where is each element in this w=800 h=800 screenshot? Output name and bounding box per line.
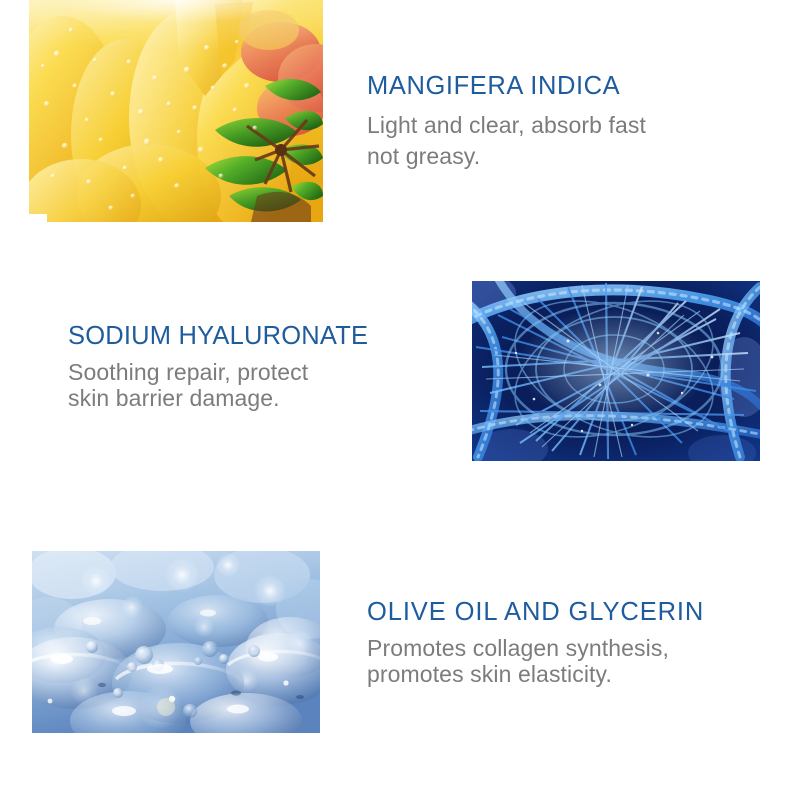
section-olive-text: OLIVE OIL AND GLYCERIN Promotes collagen… <box>367 598 704 687</box>
blue-fiber-network-photo <box>472 281 760 461</box>
section-mangifera-body-line-2: not greasy. <box>367 141 646 172</box>
section-sodium-text: SODIUM HYALURONATE Soothing repair, prot… <box>68 322 368 411</box>
fiber-photo-artwork <box>472 281 760 461</box>
section-olive-heading: OLIVE OIL AND GLYCERIN <box>367 598 704 626</box>
water-photo-artwork <box>32 551 320 733</box>
section-sodium-body-line-2: skin barrier damage. <box>68 385 368 411</box>
section-olive-body-line-1: Promotes collagen synthesis, <box>367 635 704 661</box>
mango-fruit-photo <box>29 0 323 222</box>
section-sodium-body-line-1: Soothing repair, protect <box>68 359 368 385</box>
section-mangifera-body-line-1: Light and clear, absorb fast <box>367 110 646 141</box>
water-droplets-photo <box>32 551 320 733</box>
section-mangifera-heading: MANGIFERA INDICA <box>367 72 646 100</box>
section-olive-body-line-2: promotes skin elasticity. <box>367 661 704 687</box>
section-sodium-heading: SODIUM HYALURONATE <box>68 322 368 350</box>
mango-photo-artwork <box>29 0 323 222</box>
product-ingredient-infographic: MANGIFERA INDICA Light and clear, absorb… <box>0 0 800 800</box>
section-mangifera-text: MANGIFERA INDICA Light and clear, absorb… <box>367 72 646 171</box>
